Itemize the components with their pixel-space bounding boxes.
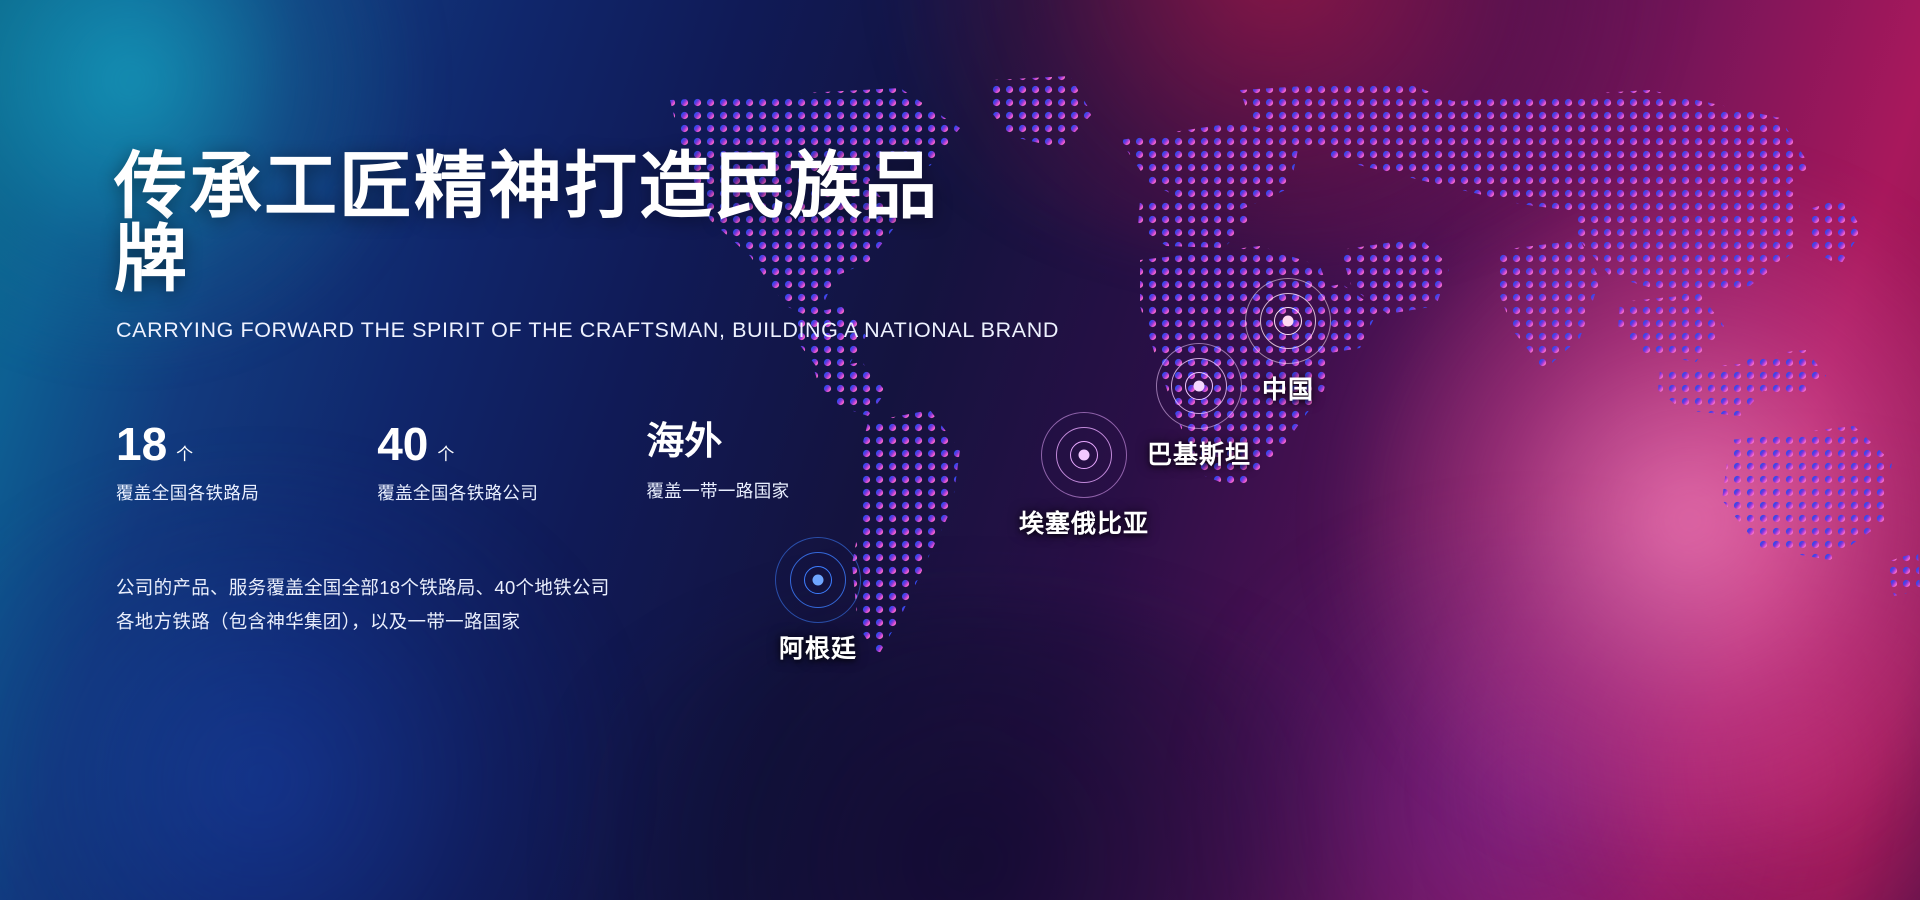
stat-number: 18 bbox=[116, 421, 167, 467]
stat-item-overseas: 海外 覆盖一带一路国家 bbox=[646, 421, 789, 505]
hero-banner: 中国 巴基斯坦 埃塞俄比亚 阿根廷 传承工匠精神打造民族品牌 CARR bbox=[0, 0, 1920, 900]
radar-rings-icon bbox=[1041, 412, 1127, 498]
stat-unit: 个 bbox=[176, 440, 193, 465]
description-paragraph: 公司的产品、服务覆盖全国全部18个铁路局、40个地铁公司 各地方铁路（包含神华集… bbox=[116, 571, 994, 639]
map-marker-china[interactable]: 中国 bbox=[1245, 278, 1331, 364]
description-line-2: 各地方铁路（包含神华集团），以及一带一路国家 bbox=[116, 605, 994, 639]
stat-number: 40 bbox=[377, 421, 428, 467]
stat-description: 覆盖全国各铁路公司 bbox=[377, 480, 538, 505]
radar-rings-icon bbox=[1156, 343, 1242, 429]
map-marker-pakistan[interactable]: 巴基斯坦 bbox=[1156, 343, 1242, 429]
stat-description: 覆盖一带一路国家 bbox=[646, 478, 789, 503]
stat-value-row: 40 个 bbox=[377, 421, 538, 467]
map-marker-label: 巴基斯坦 bbox=[1147, 435, 1251, 471]
radar-rings-icon bbox=[1245, 278, 1331, 364]
stat-value-row: 18 个 bbox=[116, 421, 259, 467]
marker-dot bbox=[1283, 316, 1294, 327]
map-marker-label: 中国 bbox=[1262, 370, 1314, 406]
stats-row: 18 个 覆盖全国各铁路局 40 个 覆盖全国各铁路公司 海外 覆盖一带一路国家 bbox=[116, 421, 994, 505]
stat-value-row: 海外 bbox=[646, 421, 789, 465]
stat-item-railway-companies: 40 个 覆盖全国各铁路公司 bbox=[377, 421, 538, 505]
hero-content: 传承工匠精神打造民族品牌 CARRYING FORWARD THE SPIRIT… bbox=[114, 150, 994, 639]
marker-dot bbox=[1079, 450, 1090, 461]
marker-dot bbox=[1194, 381, 1205, 392]
page-title: 传承工匠精神打造民族品牌 bbox=[114, 150, 994, 296]
map-marker-ethiopia[interactable]: 埃塞俄比亚 bbox=[1041, 412, 1127, 498]
map-marker-label: 埃塞俄比亚 bbox=[1019, 504, 1149, 540]
stat-description: 覆盖全国各铁路局 bbox=[116, 480, 259, 505]
stat-unit: 个 bbox=[437, 440, 454, 465]
stat-item-railway-bureaus: 18 个 覆盖全国各铁路局 bbox=[116, 421, 259, 505]
stat-number: 海外 bbox=[646, 421, 722, 465]
page-subtitle: CARRYING FORWARD THE SPIRIT OF THE CRAFT… bbox=[116, 318, 994, 343]
description-line-1: 公司的产品、服务覆盖全国全部18个铁路局、40个地铁公司 bbox=[116, 571, 994, 605]
